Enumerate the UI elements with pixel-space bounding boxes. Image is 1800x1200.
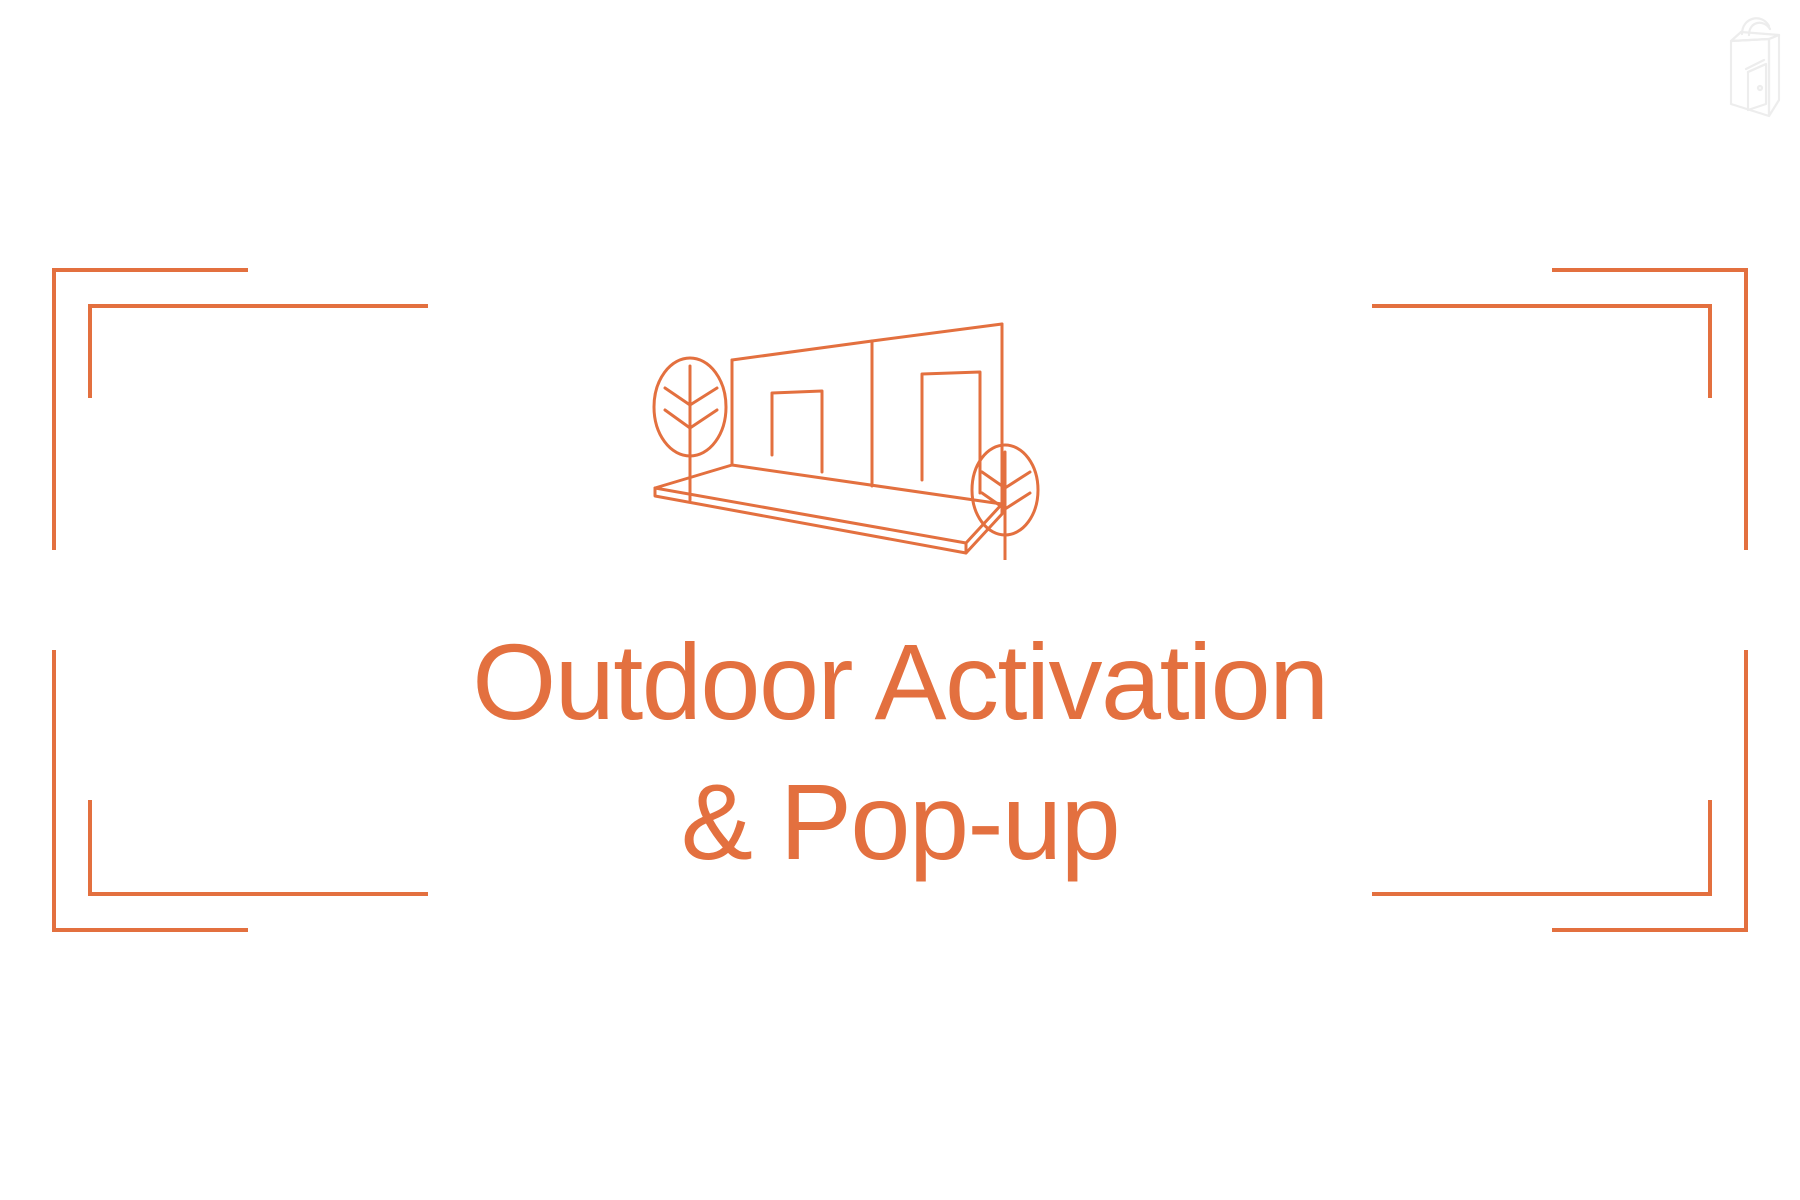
title-line-1: Outdoor Activation xyxy=(0,612,1800,752)
platform-top-face xyxy=(655,465,1002,543)
tree-left-branch-4 xyxy=(690,410,717,428)
bracket-top-right-inner xyxy=(1372,306,1710,398)
slide-canvas: Outdoor Activation & Pop-up xyxy=(0,0,1800,1200)
doorway-right xyxy=(922,372,980,493)
title-line-2: & Pop-up xyxy=(0,752,1800,892)
outdoor-storefront-illustration xyxy=(650,300,1120,560)
facade-top-right-segment xyxy=(872,324,1002,341)
doorway-left xyxy=(772,391,822,472)
corner-bracket-frame xyxy=(0,0,1800,1200)
tree-right-branch-4 xyxy=(1005,493,1030,509)
watermark-logo xyxy=(1700,8,1792,118)
tree-left-branch-2 xyxy=(690,388,717,405)
bracket-top-left-inner xyxy=(90,306,428,398)
bracket-top-left-outer xyxy=(54,270,248,550)
shopping-bag-with-door-icon xyxy=(1731,18,1779,116)
tree-left-branch-3 xyxy=(665,410,690,428)
bracket-top-right-outer xyxy=(1552,270,1746,550)
tree-right-branch-2 xyxy=(1005,472,1030,488)
page-title: Outdoor Activation & Pop-up xyxy=(0,612,1800,892)
tree-left-branch-1 xyxy=(665,388,690,405)
facade-top-left-segment xyxy=(732,341,872,360)
